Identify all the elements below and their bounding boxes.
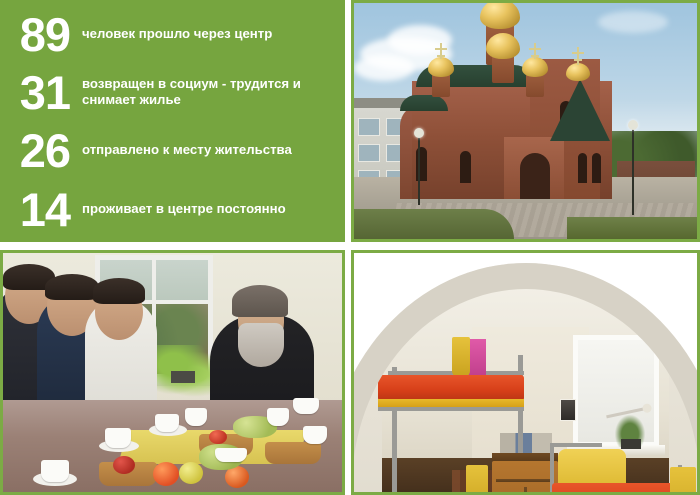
teacup [303,426,327,444]
stat-row: 89 человек прошло через центр [0,6,345,62]
grass-lawn [354,209,514,239]
onion-dome [428,57,454,77]
stat-number: 89 [0,11,70,58]
stat-row: 26 отправлено к месту жительства [0,122,345,178]
stat-row: 31 возвращен в социум - трудится и снима… [0,64,345,120]
tea-gathering-photo-frame [0,250,345,495]
stat-label: проживает в центре постоянно [70,201,345,217]
man-hair [45,274,99,300]
dorm-room-photo-frame [351,250,700,495]
berries [113,456,135,474]
building-window [358,118,380,136]
priest-beard [238,323,284,367]
stat-number: 14 [0,186,70,233]
teacup [41,460,69,482]
cross-icon [440,43,442,59]
priest-hair [232,285,288,317]
teacup [155,414,179,432]
church-photo [351,0,700,242]
lamp-post [418,137,420,205]
sugar-bowl [293,398,319,414]
apple [179,462,203,484]
cloud-shape [598,11,668,33]
church-window [578,153,587,183]
stat-label: отправлено к месту жительства [70,142,345,158]
cross-icon [577,47,579,65]
stat-label: возвращен в социум - трудится и снимает … [70,76,345,108]
onion-dome [566,63,590,81]
man-hair [93,278,145,304]
lamp-post [632,129,634,215]
plant-pot [171,371,195,383]
church-window [592,153,601,183]
teacup [267,408,289,426]
stat-number: 26 [0,127,70,174]
church-side-roof [400,95,448,111]
tea-gathering-photo-image [3,253,342,492]
onion-dome [480,3,520,29]
church-photo-frame [351,0,700,242]
berries [209,430,227,444]
cross-icon [534,43,536,59]
cloud-shape [388,25,452,55]
onion-dome [522,57,548,77]
serving-bowl [215,448,247,462]
grass-lawn [567,217,697,239]
teacup [185,408,207,426]
fruit-basket [265,442,321,464]
teacup [105,428,131,448]
onion-dome [486,33,520,59]
infographic-root: 89 человек прошло через центр 31 возвращ… [0,0,700,495]
church-entrance-arch [520,153,550,199]
building-window [358,144,380,162]
tea-gathering-photo [0,250,345,495]
church-tent-roof [550,79,610,141]
church-window [460,151,471,183]
cloud-shape [354,55,414,81]
horizontal-gutter [0,242,700,250]
church-photo-image [354,3,697,239]
apple [153,462,179,486]
statistics-panel-background: 89 человек прошло через центр 31 возвращ… [0,0,345,242]
dorm-room-photo-image [354,253,697,492]
stat-number: 31 [0,69,70,116]
statistics-panel: 89 человек прошло через центр 31 возвращ… [0,0,345,242]
dorm-room-photo [351,250,700,495]
stat-row: 14 проживает в центре постоянно [0,181,345,237]
stat-label: человек прошло через центр [70,26,345,42]
